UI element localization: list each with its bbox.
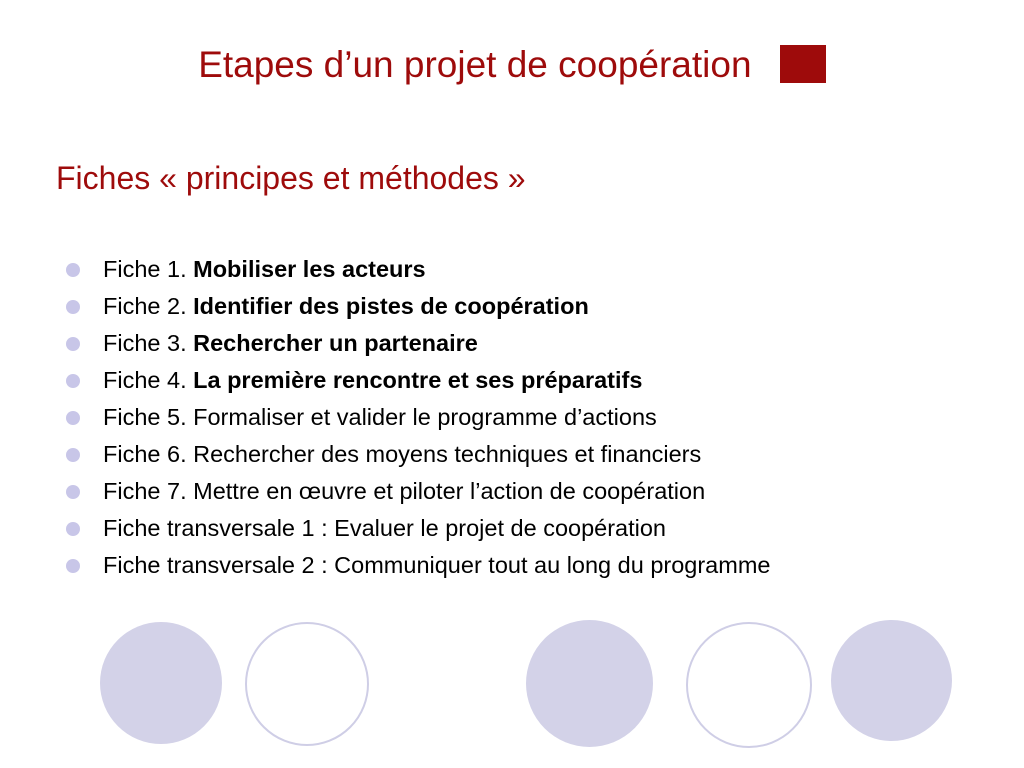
list-item-label: Fiche transversale 2 : Communiquer tout …: [103, 552, 770, 578]
deco-circle-5-icon: [831, 620, 952, 741]
list-item-label: Fiche 6. Rechercher des moyens technique…: [103, 441, 701, 467]
section-subtitle: Fiches « principes et méthodes »: [56, 158, 526, 198]
bullet-dot-icon: [66, 559, 80, 573]
bullet-dot-icon: [66, 411, 80, 425]
fiches-bullet-list: Fiche 1. Mobiliser les acteursFiche 2. I…: [62, 256, 962, 589]
list-item: Fiche 2. Identifier des pistes de coopér…: [62, 293, 962, 319]
list-item-label: Fiche 4.: [103, 367, 193, 393]
list-item-emphasis: Mobiliser les acteurs: [193, 256, 426, 282]
list-item: Fiche 5. Formaliser et valider le progra…: [62, 404, 962, 430]
list-item: Fiche 3. Rechercher un partenaire: [62, 330, 962, 356]
bullet-dot-icon: [66, 337, 80, 351]
list-item-emphasis: Identifier des pistes de coopération: [193, 293, 589, 319]
list-item-label: Fiche 3.: [103, 330, 193, 356]
list-item-label: Fiche 2.: [103, 293, 193, 319]
list-item: Fiche 1. Mobiliser les acteurs: [62, 256, 962, 282]
list-item: Fiche transversale 2 : Communiquer tout …: [62, 552, 962, 578]
deco-circle-1-icon: [100, 622, 222, 744]
list-item: Fiche 6. Rechercher des moyens technique…: [62, 441, 962, 467]
bullet-dot-icon: [66, 374, 80, 388]
list-item-emphasis: La première rencontre et ses préparatifs: [193, 367, 642, 393]
deco-circle-3-icon: [526, 620, 653, 747]
list-item: Fiche 4. La première rencontre et ses pr…: [62, 367, 962, 393]
bullet-dot-icon: [66, 263, 80, 277]
list-item-label: Fiche 1.: [103, 256, 193, 282]
list-item: Fiche transversale 1 : Evaluer le projet…: [62, 515, 962, 541]
red-square-icon: [780, 45, 826, 83]
deco-circle-2-icon: [245, 622, 369, 746]
slide-canvas: Etapes d’un projet de coopération Fiches…: [0, 0, 1024, 768]
list-item-label: Fiche transversale 1 : Evaluer le projet…: [103, 515, 666, 541]
list-item-label: Fiche 7. Mettre en œuvre et piloter l’ac…: [103, 478, 705, 504]
bullet-dot-icon: [66, 522, 80, 536]
page-title: Etapes d’un projet de coopération: [0, 38, 1024, 90]
bullet-dot-icon: [66, 485, 80, 499]
bullet-dot-icon: [66, 448, 80, 462]
deco-circle-4-icon: [686, 622, 812, 748]
page-title-text: Etapes d’un projet de coopération: [198, 40, 751, 90]
list-item: Fiche 7. Mettre en œuvre et piloter l’ac…: [62, 478, 962, 504]
list-item-emphasis: Rechercher un partenaire: [193, 330, 478, 356]
decorative-circle-band: [0, 620, 1024, 768]
list-item-label: Fiche 5. Formaliser et valider le progra…: [103, 404, 657, 430]
bullet-dot-icon: [66, 300, 80, 314]
